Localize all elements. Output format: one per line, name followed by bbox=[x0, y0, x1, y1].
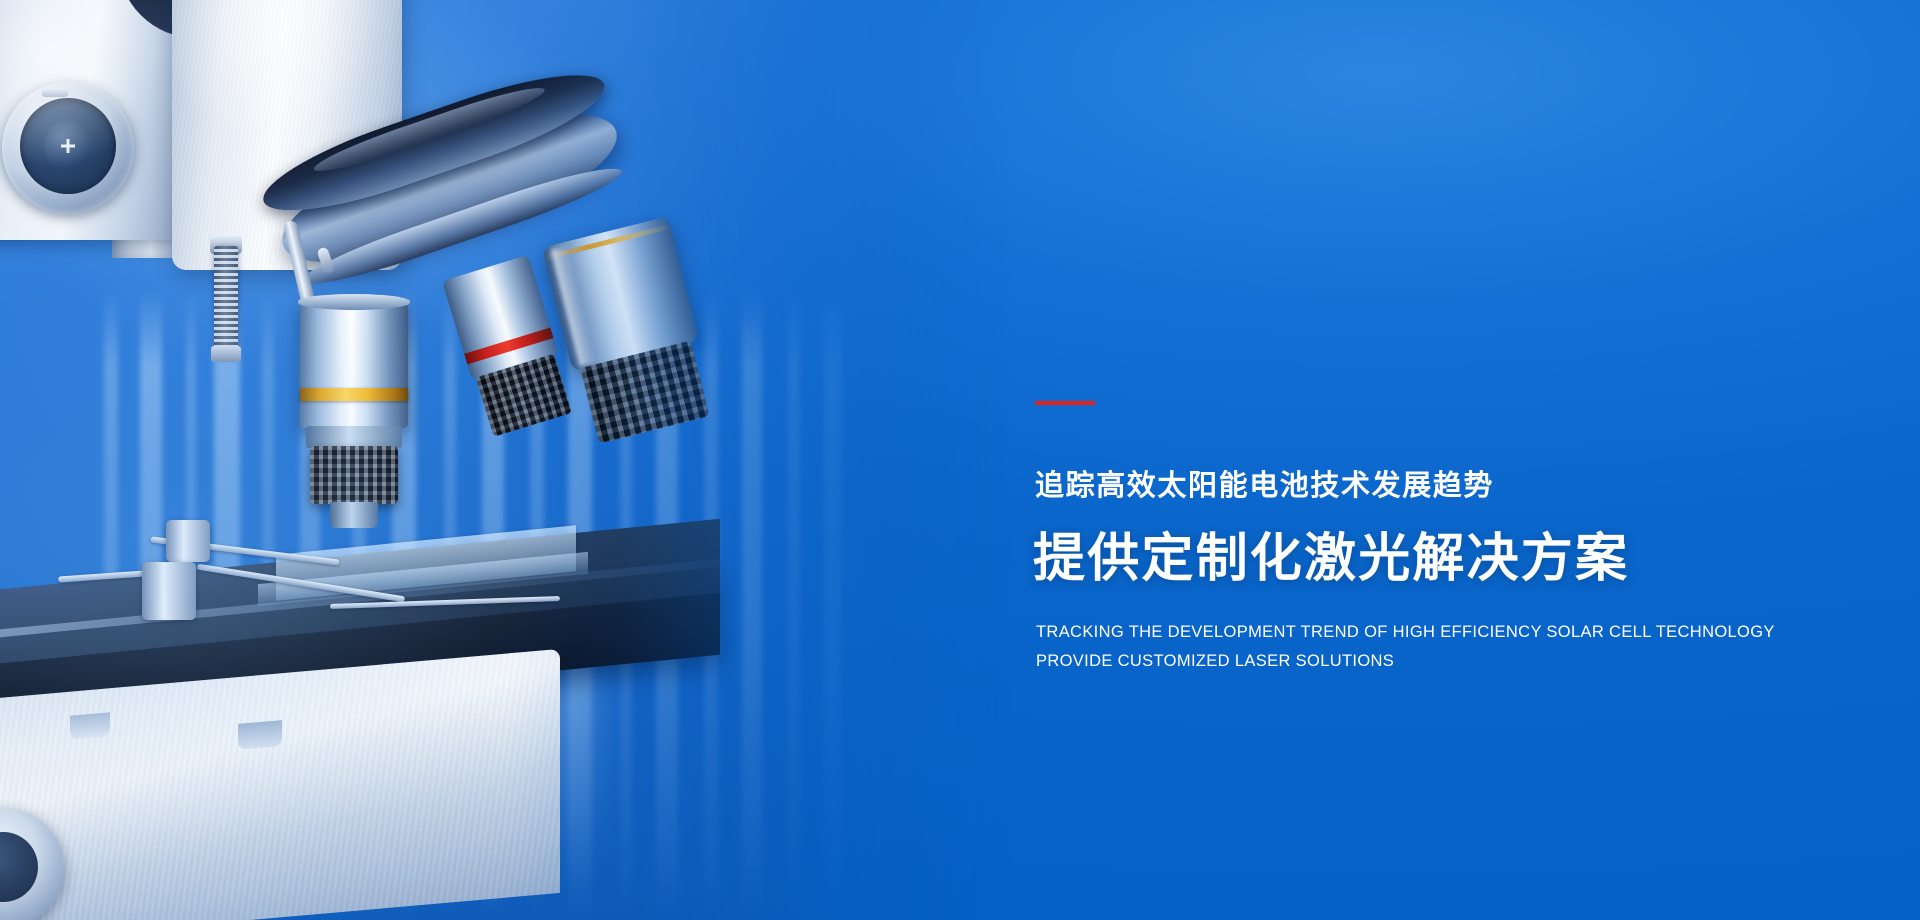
microscope-photo bbox=[0, 0, 1010, 920]
focus-knob-inner-ring bbox=[20, 98, 116, 194]
hero-english-line-1: TRACKING THE DEVELOPMENT TREND OF HIGH E… bbox=[1036, 623, 1775, 642]
accent-divider bbox=[1035, 401, 1095, 405]
objective-lens-front bbox=[300, 300, 408, 530]
base-adjust-wheel-center bbox=[0, 832, 38, 902]
phillips-screw-icon bbox=[61, 139, 75, 153]
objective-front-knurl bbox=[310, 446, 398, 504]
hero-title-cn: 提供定制化激光解决方案 bbox=[1033, 516, 1629, 591]
arm-screw-top bbox=[42, 88, 68, 97]
hero-english-line-2: PROVIDE CUSTOMIZED LASER SOLUTIONS bbox=[1036, 652, 1394, 671]
adjust-post-foot bbox=[211, 346, 241, 362]
hero-content: 追踪高效太阳能电池技术发展趋势 提供定制化激光解决方案 TRACKING THE… bbox=[1035, 0, 1875, 920]
objective-front-top-ring bbox=[298, 294, 410, 310]
hero-banner: 追踪高效太阳能电池技术发展趋势 提供定制化激光解决方案 TRACKING THE… bbox=[0, 0, 1920, 920]
focus-knob-center bbox=[44, 122, 92, 170]
base-notch-right bbox=[238, 720, 282, 750]
objective-front-barrel bbox=[300, 300, 408, 428]
microscope-arm-plate bbox=[0, 0, 176, 240]
adjust-post bbox=[214, 246, 238, 354]
hero-subtitle-cn: 追踪高效太阳能电池技术发展趋势 bbox=[1035, 462, 1494, 504]
stage-clip-post-upper bbox=[166, 520, 210, 562]
focus-knob bbox=[2, 82, 134, 214]
base-notch-left bbox=[70, 712, 110, 739]
microscope-base bbox=[0, 649, 560, 920]
stage-clip-post-lower bbox=[142, 562, 196, 620]
objective-front-tip bbox=[330, 502, 378, 528]
objective-front-yellow-band bbox=[300, 388, 408, 401]
objective-front-lower-ring bbox=[306, 426, 402, 448]
